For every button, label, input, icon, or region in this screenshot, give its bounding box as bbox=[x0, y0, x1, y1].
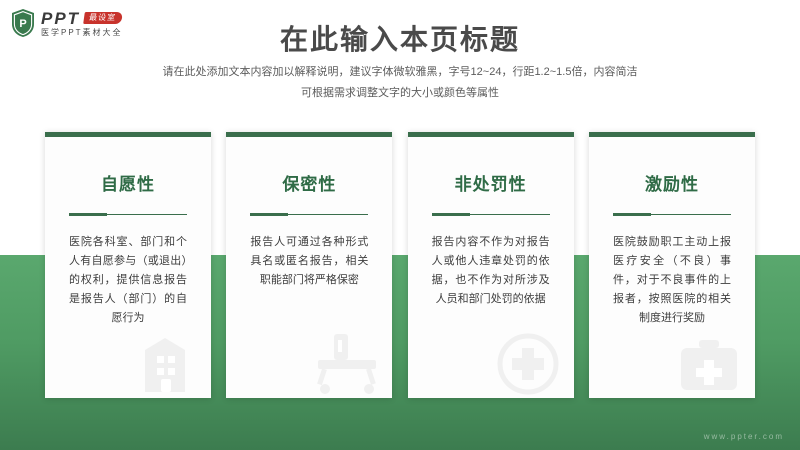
card-divider bbox=[432, 214, 550, 215]
card-divider bbox=[250, 214, 368, 215]
medical-cross-circle-icon bbox=[490, 320, 566, 396]
feature-card-2[interactable]: 保密性 报告人可通过各种形式具名或匿名报告，相关职能部门将严格保密 bbox=[226, 132, 392, 398]
card-top-accent-bar bbox=[226, 132, 392, 137]
card-divider bbox=[69, 214, 187, 215]
footer-watermark-url: www.ppter.com bbox=[704, 432, 784, 441]
card-top-accent-bar bbox=[45, 132, 211, 137]
page-title: 在此输入本页标题 bbox=[0, 18, 800, 58]
slide-canvas: P PPT 最设室 医学PPT素材大全 在此输入本页标题 请在此处添加文本内容加… bbox=[0, 0, 800, 450]
feature-card-row: 自愿性 医院各科室、部门和个人有自愿参与（或退出）的权利，提供信息报告是报告人（… bbox=[45, 132, 755, 398]
card-body-text: 医院各科室、部门和个人有自愿参与（或退出）的权利，提供信息报告是报告人（部门）的… bbox=[69, 233, 187, 328]
card-title: 自愿性 bbox=[101, 170, 155, 195]
feature-card-4[interactable]: 激励性 医院鼓励职工主动上报医疗安全（不良）事件，对于不良事件的上报者，按照医院… bbox=[589, 132, 755, 398]
page-subtitle-line-1: 请在此处添加文本内容加以解释说明，建议字体微软雅黑，字号12~24，行距1.2~… bbox=[0, 62, 800, 83]
card-divider bbox=[613, 214, 731, 215]
hospital-bed-icon bbox=[308, 320, 384, 396]
card-title: 保密性 bbox=[282, 170, 336, 195]
page-subtitle-line-2: 可根据需求调整文字的大小或颜色等属性 bbox=[0, 83, 800, 104]
page-subtitle: 请在此处添加文本内容加以解释说明，建议字体微软雅黑，字号12~24，行距1.2~… bbox=[0, 62, 800, 104]
hospital-building-icon bbox=[127, 320, 203, 396]
feature-card-1[interactable]: 自愿性 医院各科室、部门和个人有自愿参与（或退出）的权利，提供信息报告是报告人（… bbox=[45, 132, 211, 398]
card-top-accent-bar bbox=[408, 132, 574, 137]
card-body-text: 报告内容不作为对报告人或他人违章处罚的依据，也不作为对所涉及人员和部门处罚的依据 bbox=[432, 233, 550, 309]
card-top-accent-bar bbox=[589, 132, 755, 137]
card-title: 非处罚性 bbox=[455, 170, 527, 195]
card-body-text: 报告人可通过各种形式具名或匿名报告，相关职能部门将严格保密 bbox=[250, 233, 368, 290]
first-aid-kit-icon bbox=[671, 320, 747, 396]
card-title: 激励性 bbox=[645, 170, 699, 195]
card-body-text: 医院鼓励职工主动上报医疗安全（不良）事件，对于不良事件的上报者，按照医院的相关制… bbox=[613, 233, 731, 328]
feature-card-3[interactable]: 非处罚性 报告内容不作为对报告人或他人违章处罚的依据，也不作为对所涉及人员和部门… bbox=[408, 132, 574, 398]
